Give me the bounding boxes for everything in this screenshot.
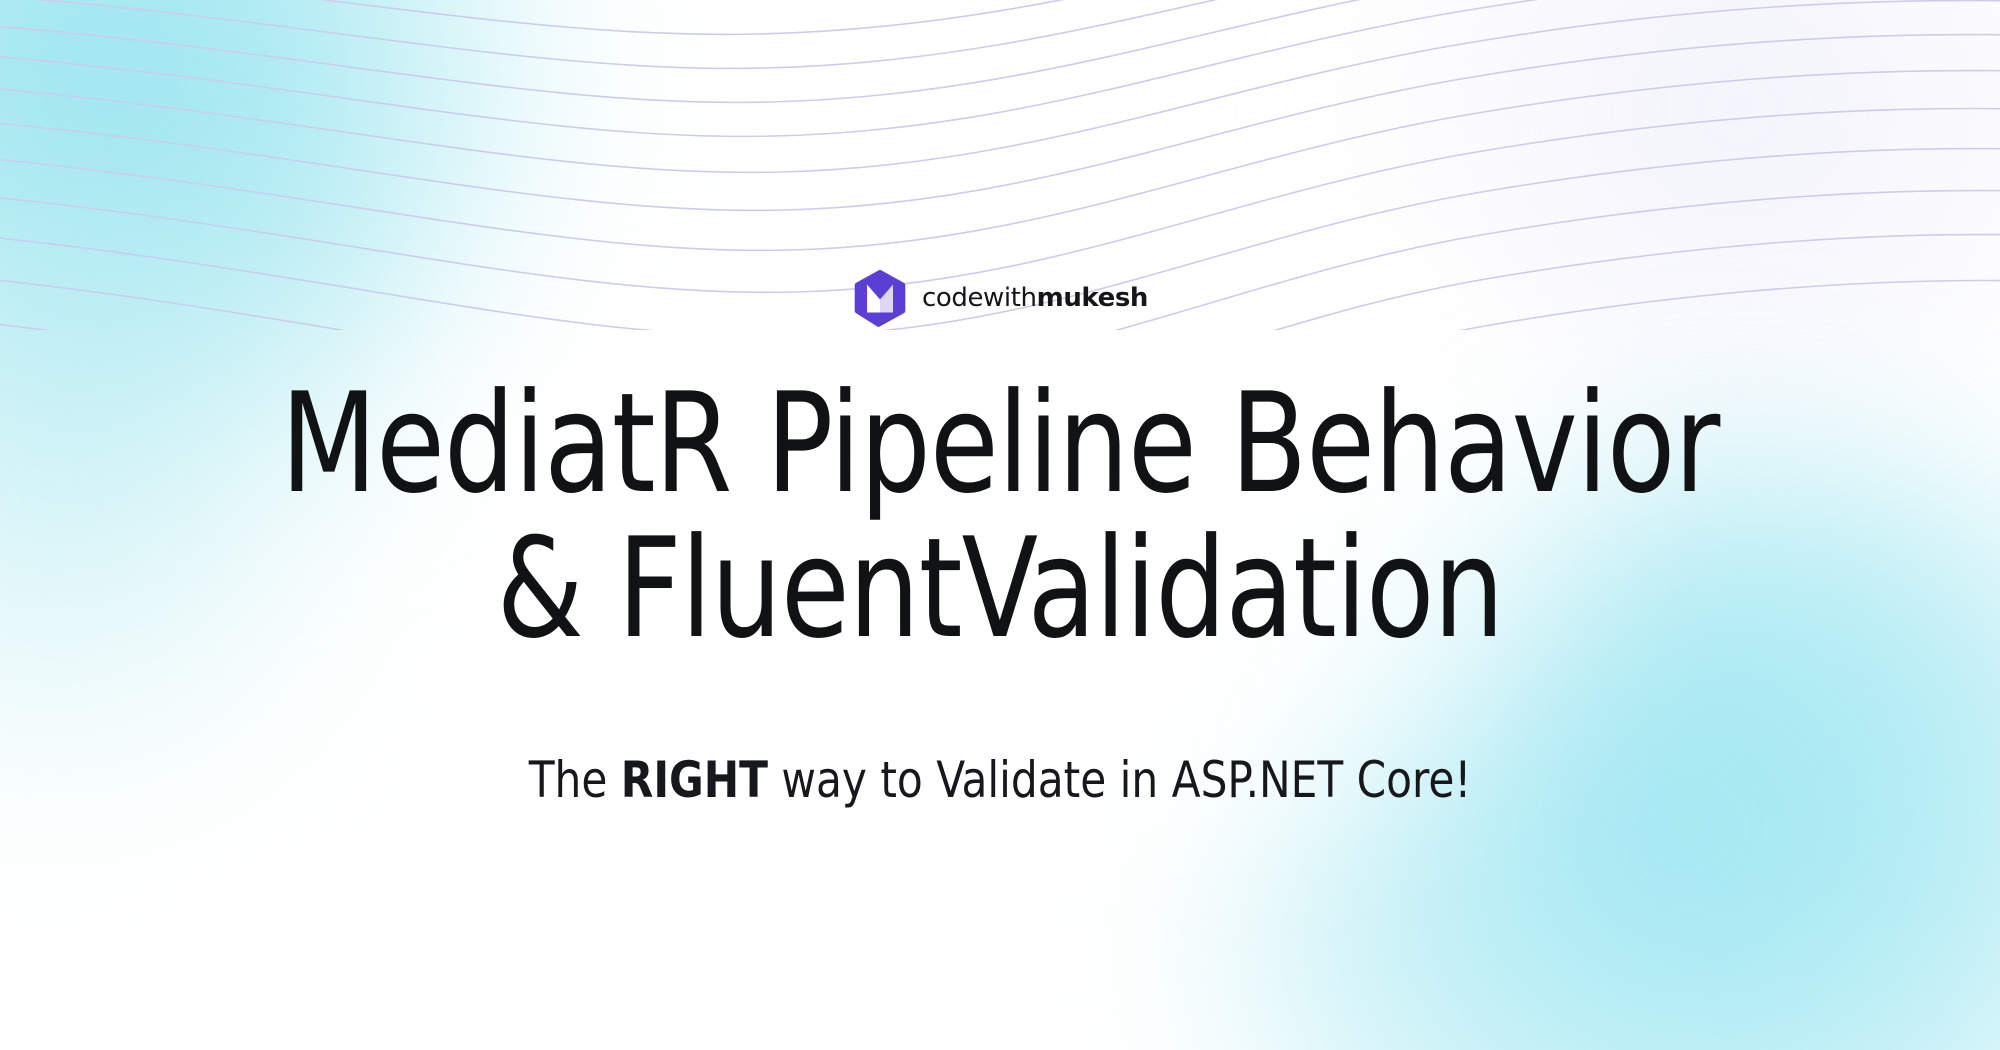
page-title-line-2: & FluentValidation [100, 517, 1900, 662]
hero-banner: codewithmukesh MediatR Pipeline Behavior… [0, 0, 2000, 1050]
page-title-line-1: MediatR Pipeline Behavior [100, 372, 1900, 517]
codewithmukesh-logo-icon [852, 268, 908, 328]
brand-logo: codewithmukesh [0, 268, 2000, 328]
subtitle-suffix: way to Validate in ASP.NET Core! [768, 751, 1471, 809]
page-title: MediatR Pipeline Behavior & FluentValida… [100, 372, 1900, 662]
brand-wordmark-bold: mukesh [1037, 283, 1148, 313]
brand-wordmark-light: codewith [922, 283, 1037, 313]
brand-wordmark: codewithmukesh [922, 285, 1148, 311]
subtitle-prefix: The [529, 751, 621, 809]
page-subtitle: The RIGHT way to Validate in ASP.NET Cor… [60, 750, 1940, 810]
subtitle-emphasis: RIGHT [621, 751, 768, 809]
gradient-blob-top-right [1360, 0, 2000, 420]
